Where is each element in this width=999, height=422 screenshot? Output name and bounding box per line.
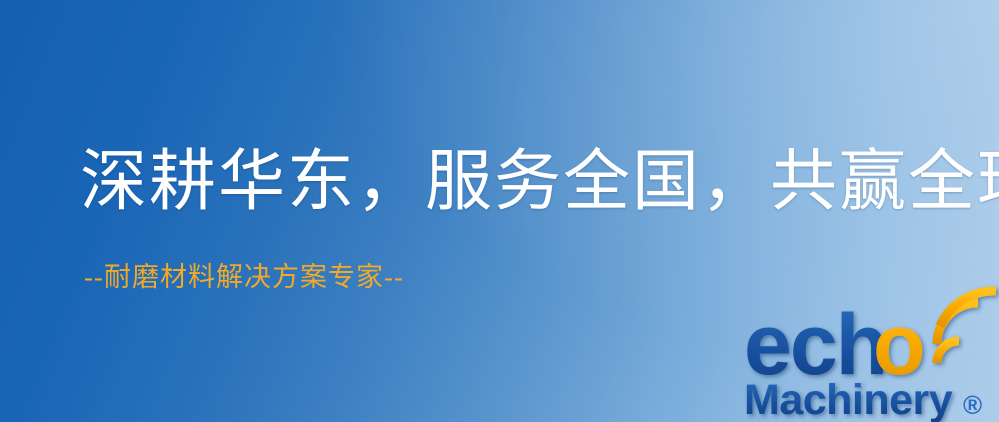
registered-trademark-icon: ® — [963, 390, 982, 420]
echo-machinery-logo[interactable]: ech o Machinery ® — [744, 296, 999, 422]
banner-headline: 深耕华东，服务全国，共赢全球 — [80, 149, 999, 216]
signal-arcs-icon — [937, 291, 996, 363]
promo-banner: 深耕华东，服务全国，共赢全球 --耐磨材料解决方案专家-- — [0, 0, 999, 422]
logo-tagline: Machinery — [744, 376, 953, 422]
banner-subtitle: --耐磨材料解决方案专家-- — [84, 264, 404, 291]
